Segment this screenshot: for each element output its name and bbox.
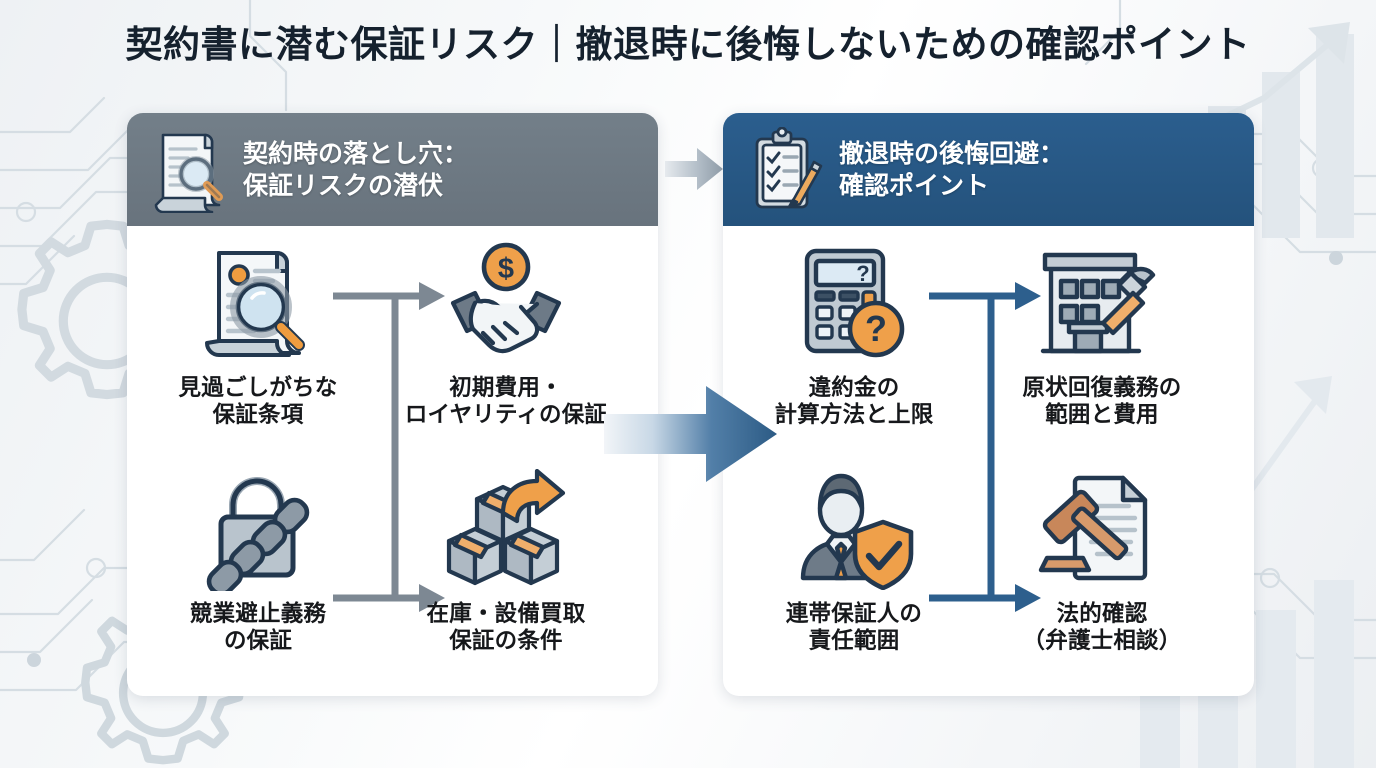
panel-body-contract-pitfalls: 見過ごしがちな 保証条項 $: [127, 226, 658, 696]
header-arrow-right-icon: [663, 145, 725, 193]
infographic-canvas: 契約書に潜む保証リスク｜撤退時に後悔しないための確認ポイント: [0, 0, 1376, 768]
cell-label: 在庫・設備買取 保証の条件: [397, 600, 615, 655]
cell-icon-wrap: [149, 236, 367, 372]
cell-label-line1: 連帯保証人の: [745, 600, 963, 627]
document-magnifier-icon: [153, 127, 227, 213]
calculator-question-icon: ? ?: [791, 241, 917, 367]
panel-header-line1: 撤退時の後悔回避：: [839, 138, 1064, 170]
cell-non-compete-guarantee: 競業避止義務 の保証: [149, 462, 367, 655]
cell-label: 原状回復義務の 範囲と費用: [993, 374, 1211, 429]
svg-text:?: ?: [856, 261, 869, 286]
cell-label-line2: 責任範囲: [745, 627, 963, 654]
panel-header-contract-pitfalls: 契約時の落とし穴： 保証リスクの潜伏: [127, 113, 658, 226]
cell-joint-guarantor-liability: 連帯保証人の 責任範囲: [745, 462, 963, 655]
cell-label-line1: 見過ごしがちな: [149, 374, 367, 401]
panel-body-exit-checkpoints: ? ? 違: [723, 226, 1254, 696]
cell-label-line1: 原状回復義務の: [993, 374, 1211, 401]
person-shield-icon: [787, 470, 921, 590]
cell-label-line1: 初期費用・: [397, 374, 615, 401]
cell-label-line2: 範囲と費用: [993, 401, 1211, 428]
panel-header-exit-checkpoints: 撤退時の後悔回避： 確認ポイント: [723, 113, 1254, 226]
page-title: 契約書に潜む保証リスク｜撤退時に後悔しないための確認ポイント: [0, 14, 1376, 68]
cell-icon-wrap: $: [397, 236, 615, 372]
svg-text:$: $: [498, 253, 514, 285]
cell-label-line1: 法的確認: [993, 600, 1211, 627]
cell-label: 見過ごしがちな 保証条項: [149, 374, 367, 429]
cell-initial-cost-royalty: $ 初期費用・ ロイヤリティの保証: [397, 236, 615, 429]
cell-icon-wrap: [397, 462, 615, 598]
cell-label-line1: 競業避止義務: [149, 600, 367, 627]
cell-legal-check: 法的確認 （弁護士相談）: [993, 462, 1211, 655]
boxes-arrow-icon: [439, 469, 573, 591]
cell-label-line2: の保証: [149, 627, 367, 654]
cell-label: 初期費用・ ロイヤリティの保証: [397, 374, 615, 429]
cell-restoration-obligation: 原状回復義務の 範囲と費用: [993, 236, 1211, 429]
panel-exit-checkpoints: 撤退時の後悔回避： 確認ポイント: [723, 113, 1254, 696]
panel-header-line2: 確認ポイント: [839, 170, 1064, 202]
padlock-chain-icon: [195, 469, 321, 591]
building-hammer-icon: [1035, 241, 1169, 367]
cell-label-line2: （弁護士相談）: [993, 627, 1211, 654]
cell-icon-wrap: [993, 236, 1211, 372]
panel-header-text: 契約時の落とし穴： 保証リスクの潜伏: [243, 138, 468, 202]
cell-icon-wrap: [993, 462, 1211, 598]
panel-header-text: 撤退時の後悔回避： 確認ポイント: [839, 138, 1064, 202]
cell-icon-wrap: [149, 462, 367, 598]
cell-label-line2: 保証の条件: [397, 627, 615, 654]
panel-header-line1: 契約時の落とし穴：: [243, 138, 468, 170]
cell-label-line1: 在庫・設備買取: [397, 600, 615, 627]
cell-inventory-equipment-buyback: 在庫・設備買取 保証の条件: [397, 462, 615, 655]
handshake-coin-icon: $: [439, 241, 573, 367]
cell-label: 連帯保証人の 責任範囲: [745, 600, 963, 655]
contract-magnifier-icon: [195, 241, 321, 367]
cell-icon-wrap: ? ?: [745, 236, 963, 372]
gavel-document-icon: [1035, 470, 1169, 590]
clipboard-pencil-icon: [749, 127, 823, 213]
cell-label: 競業避止義務 の保証: [149, 600, 367, 655]
cell-label: 法的確認 （弁護士相談）: [993, 600, 1211, 655]
flow-arrow-right-icon: [602, 382, 779, 486]
svg-text:?: ?: [865, 308, 887, 349]
panel-contract-pitfalls: 契約時の落とし穴： 保証リスクの潜伏: [127, 113, 658, 696]
cell-label-line2: ロイヤリティの保証: [397, 401, 615, 428]
cell-overlooked-guarantee-clause: 見過ごしがちな 保証条項: [149, 236, 367, 429]
panel-header-line2: 保証リスクの潜伏: [243, 170, 468, 202]
cell-label-line2: 保証条項: [149, 401, 367, 428]
